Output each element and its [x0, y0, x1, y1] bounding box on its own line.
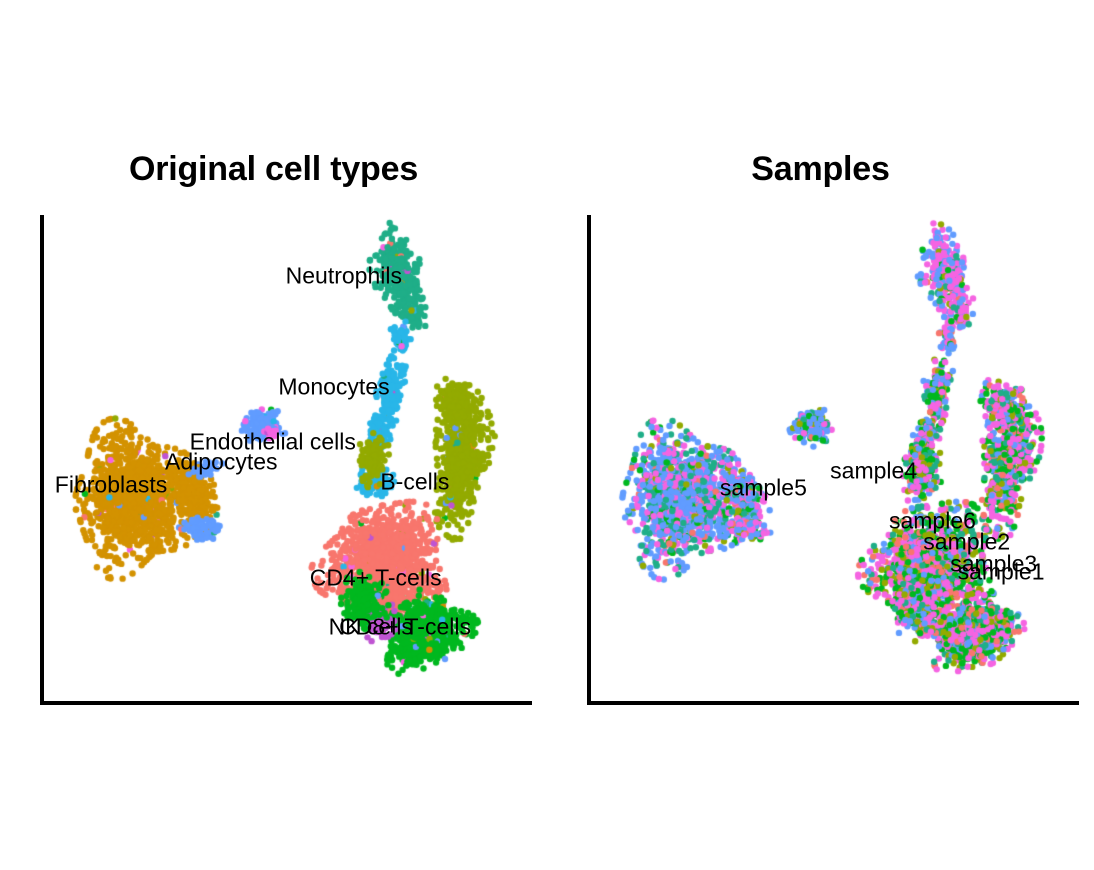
figure-root: Original cell types NeutrophilsMonocytes…: [0, 0, 1094, 870]
panel-samples: Samples sample5sample4sample6sample2samp…: [547, 0, 1094, 870]
scatter-plot-samples[interactable]: [587, 215, 1077, 705]
plot-area-samples: sample5sample4sample6sample2sample3sampl…: [587, 215, 1077, 705]
scatter-canvas-holder-right: [587, 215, 1077, 705]
scatter-canvas-holder-left: [40, 215, 530, 705]
page-title: Original cell types: [0, 150, 547, 189]
plot-area-cell-types: NeutrophilsMonocytesEndothelial cellsAdi…: [40, 215, 530, 705]
page-title-samples: Samples: [547, 150, 1094, 189]
panel-original-cell-types: Original cell types NeutrophilsMonocytes…: [0, 0, 547, 870]
scatter-plot-cell-types[interactable]: [40, 215, 530, 705]
